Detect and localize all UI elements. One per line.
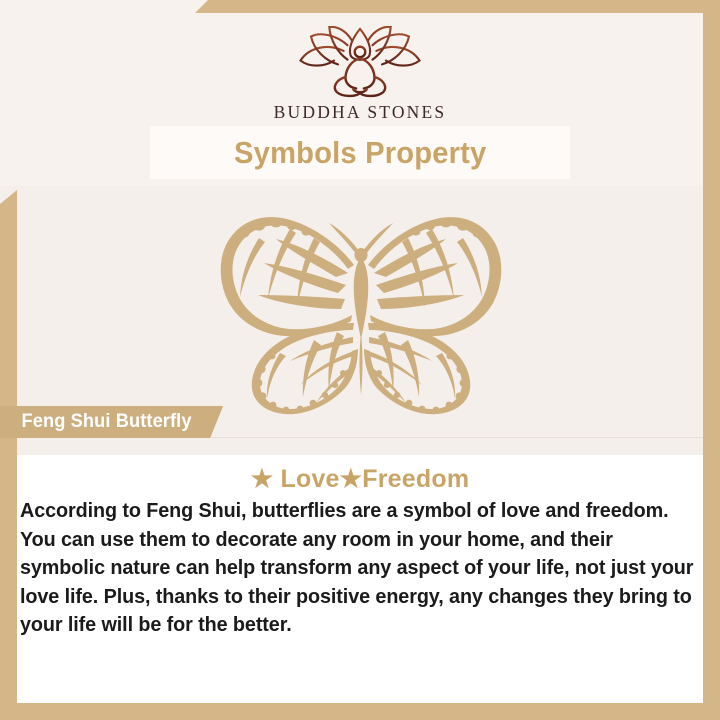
brand-lockup: BUDDHA STONES xyxy=(0,26,720,123)
frame-top-gold-band xyxy=(195,0,720,13)
symbols-property-poster: BUDDHA STONES Symbols Property xyxy=(0,0,720,720)
brand-name: BUDDHA STONES xyxy=(0,102,720,123)
headline-band: Symbols Property xyxy=(150,126,570,179)
frame-bottom-gold-band xyxy=(0,703,720,720)
description-panel: ★ Love★Freedom According to Feng Shui, b… xyxy=(17,455,703,703)
lotus-meditation-figure-icon xyxy=(285,26,435,98)
description-paragraph: According to Feng Shui, butterflies are … xyxy=(20,497,696,640)
love-freedom-subheading: ★ Love★Freedom xyxy=(17,464,703,494)
page-title: Symbols Property xyxy=(234,135,486,171)
monarch-butterfly-illustration xyxy=(196,205,526,423)
monarch-butterfly-icon xyxy=(196,205,526,423)
frame-right-gold-band xyxy=(703,0,720,720)
feng-shui-butterfly-tab: Feng Shui Butterfly xyxy=(0,406,223,438)
frame-left-gold-band xyxy=(0,190,17,720)
tab-label: Feng Shui Butterfly xyxy=(22,411,192,433)
